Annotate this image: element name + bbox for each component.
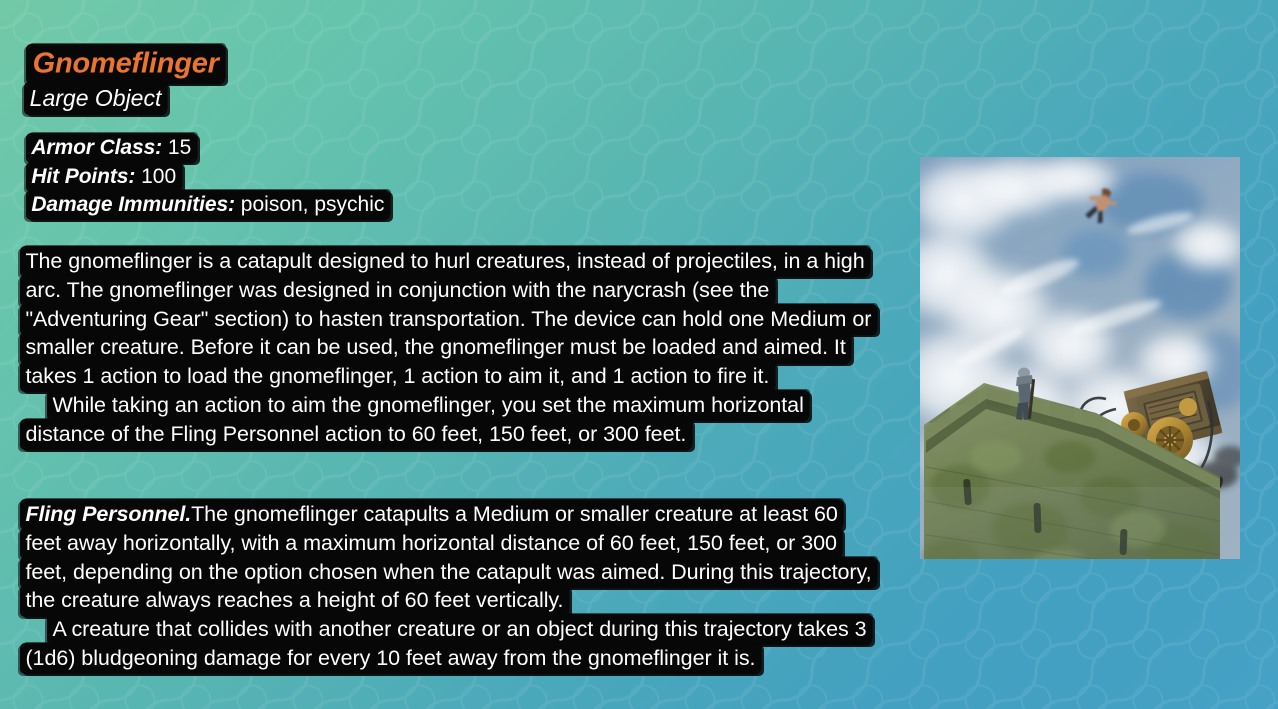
creature-name: Gnomeflinger [28,46,442,82]
creature-subtitle-text: Large Object [26,84,165,113]
action-fling-personnel: Fling Personnel.The gnomeflinger catapul… [22,500,878,615]
actions-section: Fling Personnel.The gnomeflinger catapul… [22,500,878,673]
description-paragraph-1: The gnomeflinger is a catapult designed … [22,247,878,391]
statblock-page: Gnomeflinger Large Object Armor Class: 1… [0,0,1278,709]
stat-damage-immunities-label: Damage Immunities: [31,193,235,216]
creature-artwork [920,157,1240,559]
stat-hit-points: Hit Points: 100 [28,163,662,192]
action-fling-personnel-note: A creature that collides with another cr… [22,615,878,673]
description-section: The gnomeflinger is a catapult designed … [22,247,878,449]
stat-hit-points-value: 100 [141,165,176,188]
statblock-header: Gnomeflinger Large Object [22,46,442,114]
action-fling-personnel-name: Fling Personnel. [25,502,191,526]
creature-subtitle: Large Object [26,83,442,114]
statblock-attributes: Armor Class: 15 Hit Points: 100 Damage I… [22,134,662,220]
artwork-illustration [920,157,1240,559]
stat-hit-points-label: Hit Points: [31,165,135,188]
creature-name-text: Gnomeflinger [28,46,223,82]
stat-damage-immunities-value: poison, psychic [241,193,385,216]
stat-armor-class-label: Armor Class: [31,136,162,159]
description-paragraph-2: While taking an action to aim the gnomef… [22,391,878,449]
stat-damage-immunities: Damage Immunities: poison, psychic [28,191,662,220]
stat-armor-class: Armor Class: 15 [28,134,662,163]
